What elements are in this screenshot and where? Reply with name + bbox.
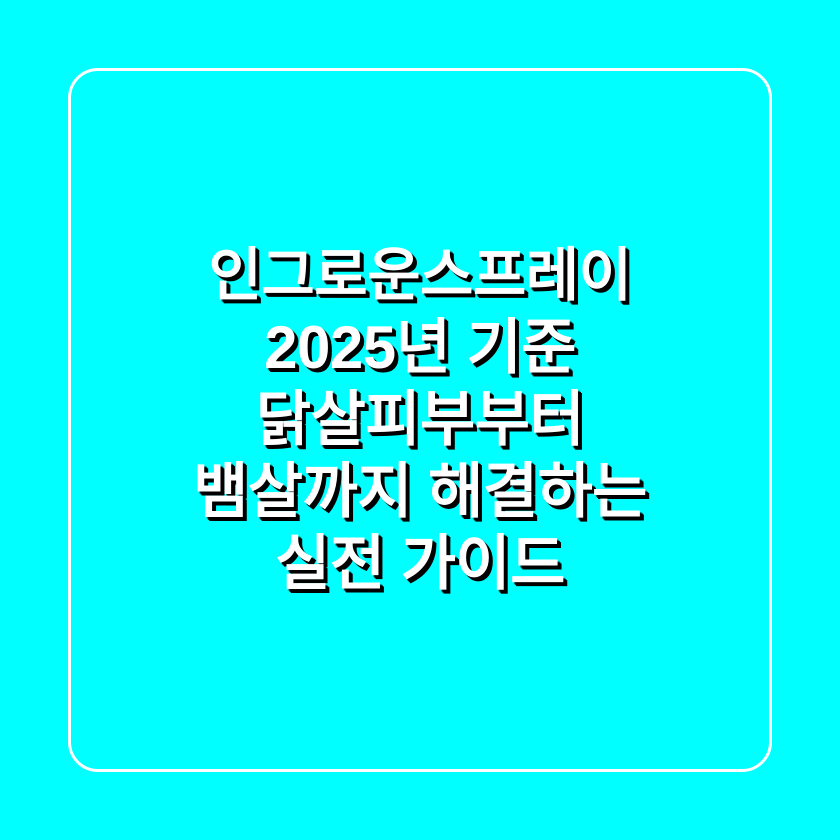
headline-line-5: 실전 가이드 bbox=[86, 528, 754, 600]
headline-line-3: 닭살피부부터 bbox=[86, 384, 754, 456]
headline-line-1: 인그로운스프레이 bbox=[86, 240, 754, 312]
headline-line-2: 2025년 기준 bbox=[86, 312, 754, 384]
headline-line-4: 뱀살까지 해결하는 bbox=[86, 456, 754, 528]
headline-text-block: 인그로운스프레이 2025년 기준 닭살피부부터 뱀살까지 해결하는 실전 가이… bbox=[68, 68, 772, 772]
poster-canvas: 인그로운스프레이 2025년 기준 닭살피부부터 뱀살까지 해결하는 실전 가이… bbox=[0, 0, 840, 840]
